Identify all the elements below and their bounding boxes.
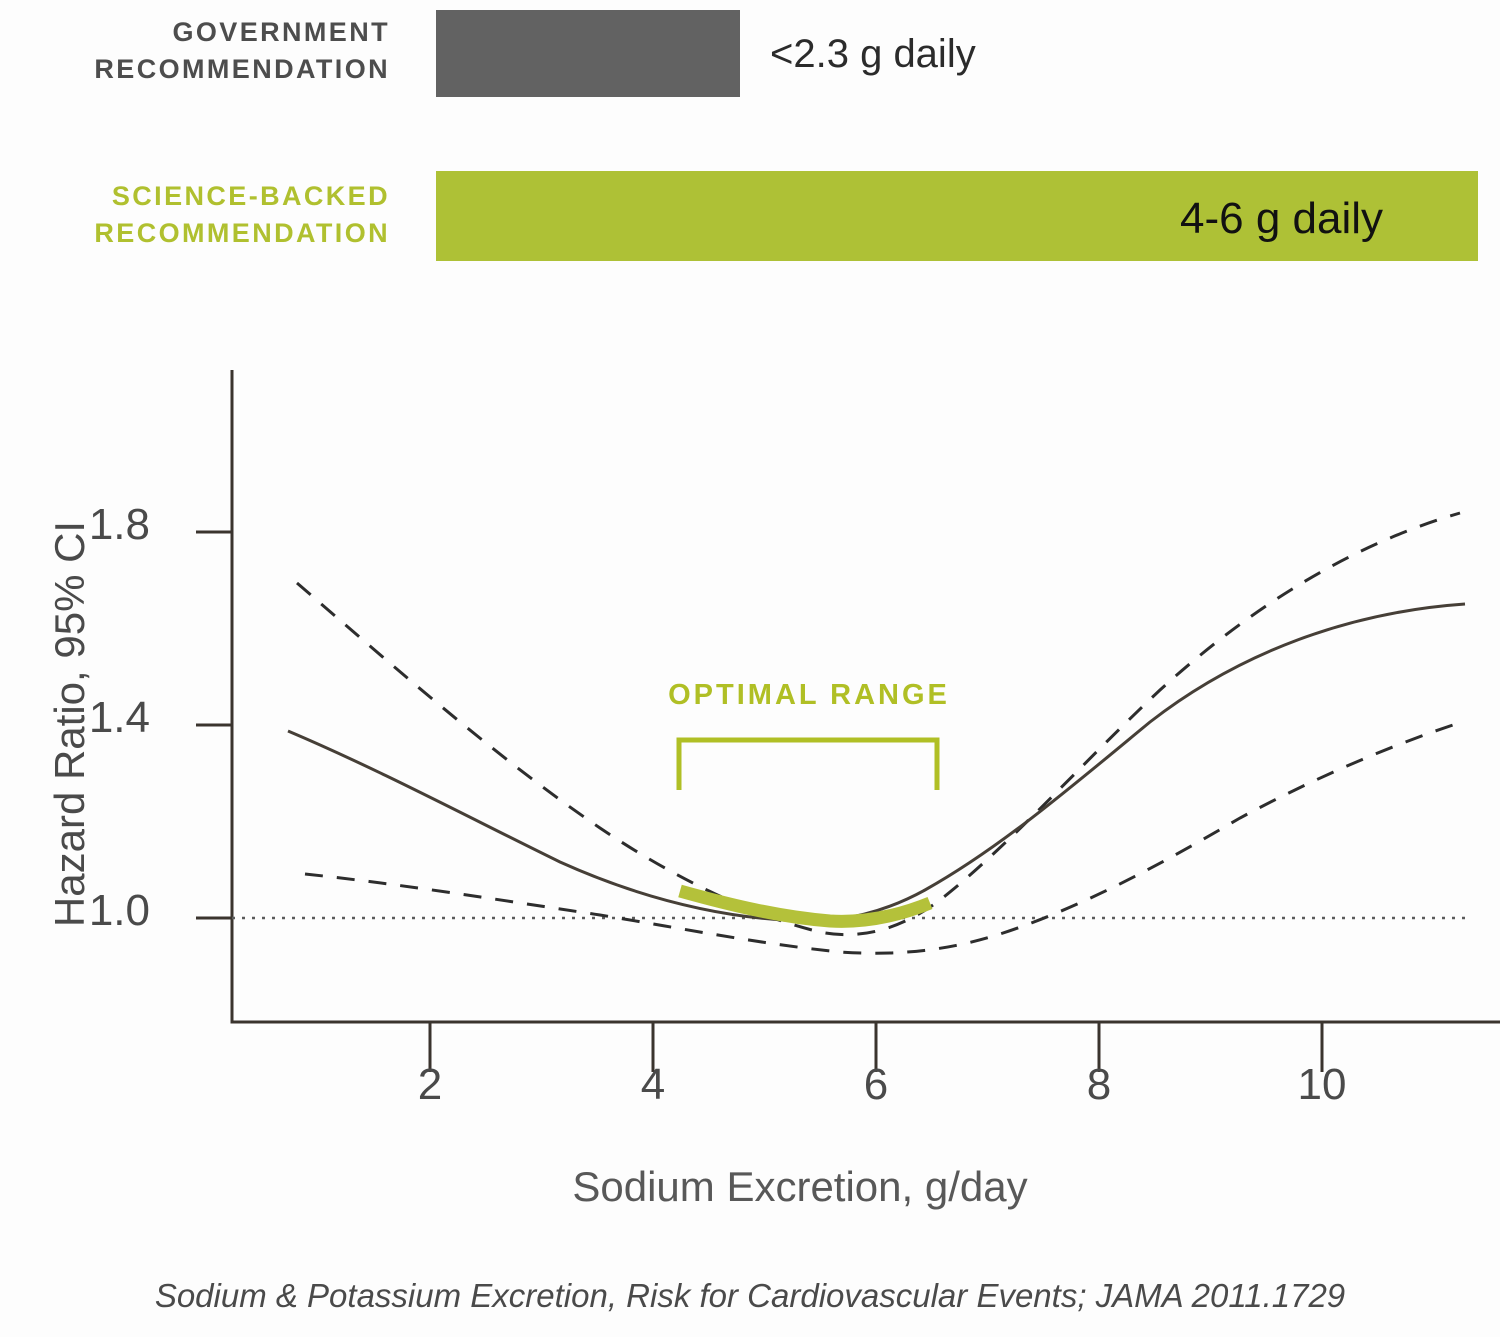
xtick-label-8: 8	[1039, 1060, 1159, 1110]
xtick-label-6: 6	[816, 1060, 936, 1110]
y-axis-label: Hazard Ratio, 95% CI	[46, 464, 94, 984]
xtick-label-4: 4	[593, 1060, 713, 1110]
upper-ci-curve	[297, 513, 1460, 935]
infographic-root: GOVERNMENT RECOMMENDATION <2.3 g daily S…	[0, 0, 1500, 1337]
hazard-ratio-curve	[288, 604, 1465, 921]
xtick-label-2: 2	[370, 1060, 490, 1110]
optimal-range-label: OPTIMAL RANGE	[604, 679, 1014, 712]
x-axis-label: Sodium Excretion, g/day	[430, 1163, 1170, 1211]
hazard-ratio-chart	[0, 0, 1500, 1337]
optimal-range-bracket	[679, 740, 937, 790]
xtick-label-10: 10	[1262, 1060, 1382, 1110]
source-caption: Sodium & Potassium Excretion, Risk for C…	[0, 1277, 1500, 1315]
